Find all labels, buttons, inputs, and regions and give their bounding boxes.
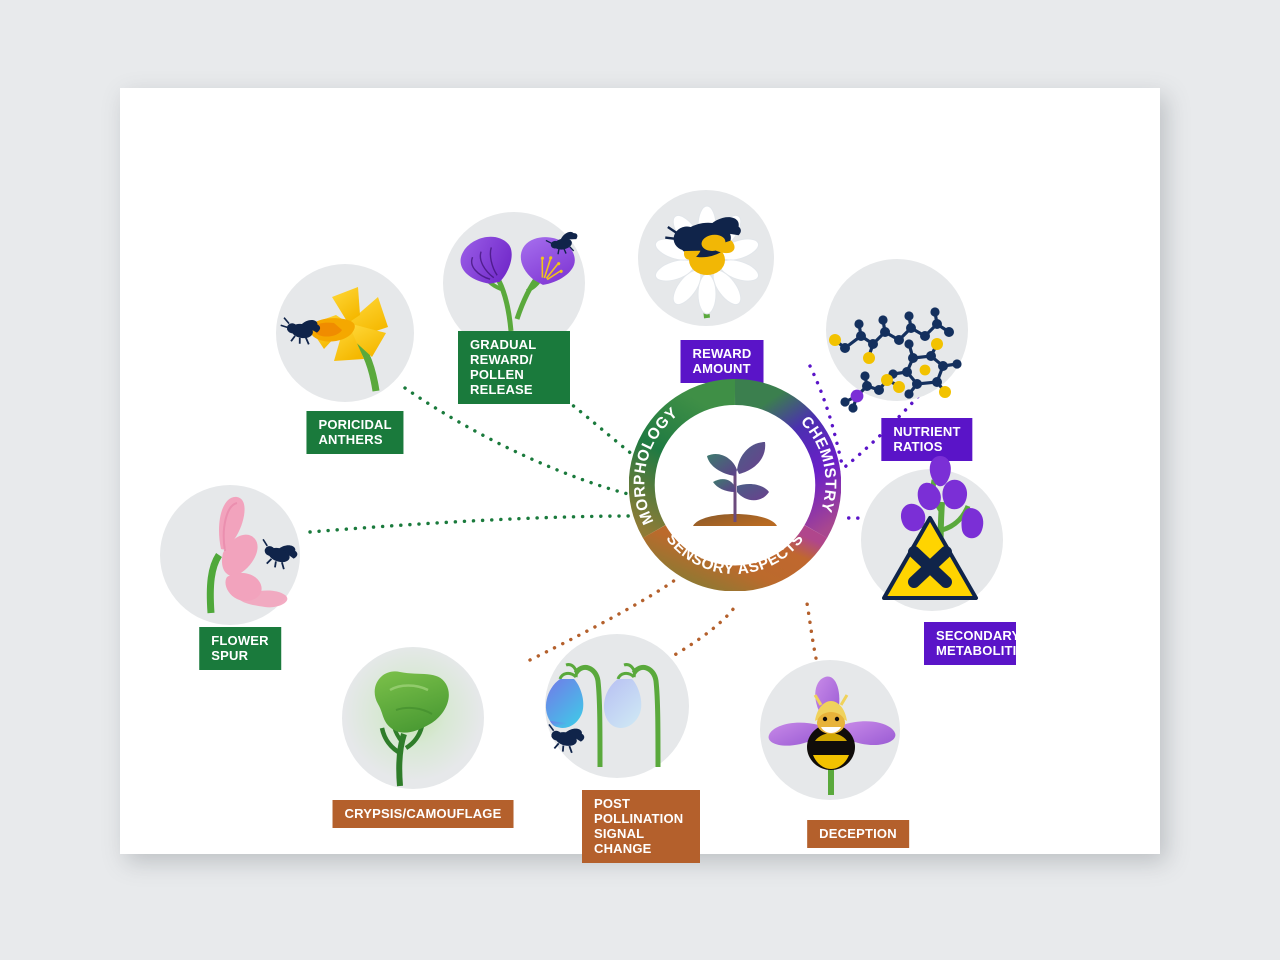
node-label[interactable]: GRADUAL REWARD/ POLLEN RELEASE: [458, 331, 570, 404]
node-label[interactable]: SECONDARY METABOLITIES: [924, 622, 1016, 665]
two-bellflowers-fading-icon: [542, 633, 696, 775]
node-label[interactable]: FLOWER SPUR: [199, 627, 281, 670]
node-label[interactable]: CRYPSIS/CAMOUFLAGE: [333, 800, 514, 828]
node-label[interactable]: DECEPTION: [807, 820, 909, 848]
bee-orchid-icon: [755, 659, 905, 801]
infographic-card: GRADUAL REWARD/ POLLEN RELEASE: [120, 88, 1160, 854]
node-label[interactable]: PORICIDAL ANTHERS: [306, 411, 403, 454]
white-daisy-with-bumblebee-icon: [633, 190, 783, 330]
node-label[interactable]: REWARD AMOUNT: [681, 340, 764, 383]
node-label[interactable]: NUTRIENT RATIOS: [881, 418, 972, 461]
monkshood-with-toxic-warning-sign-icon: [866, 456, 1018, 612]
green-camouflaged-flower-icon: [338, 650, 488, 790]
purple-trumpet-flowers-with-bee-icon: [439, 209, 589, 349]
molecular-structures-icon: [821, 256, 973, 404]
diagram-canvas: GRADUAL REWARD/ POLLEN RELEASE: [120, 88, 1160, 854]
node-label[interactable]: POST POLLINATION SIGNAL CHANGE: [582, 790, 700, 863]
pink-spurred-flower-with-bee-icon: [161, 485, 311, 625]
seedling-icon: [675, 430, 795, 540]
yellow-daffodil-with-bee-icon: [274, 261, 424, 401]
